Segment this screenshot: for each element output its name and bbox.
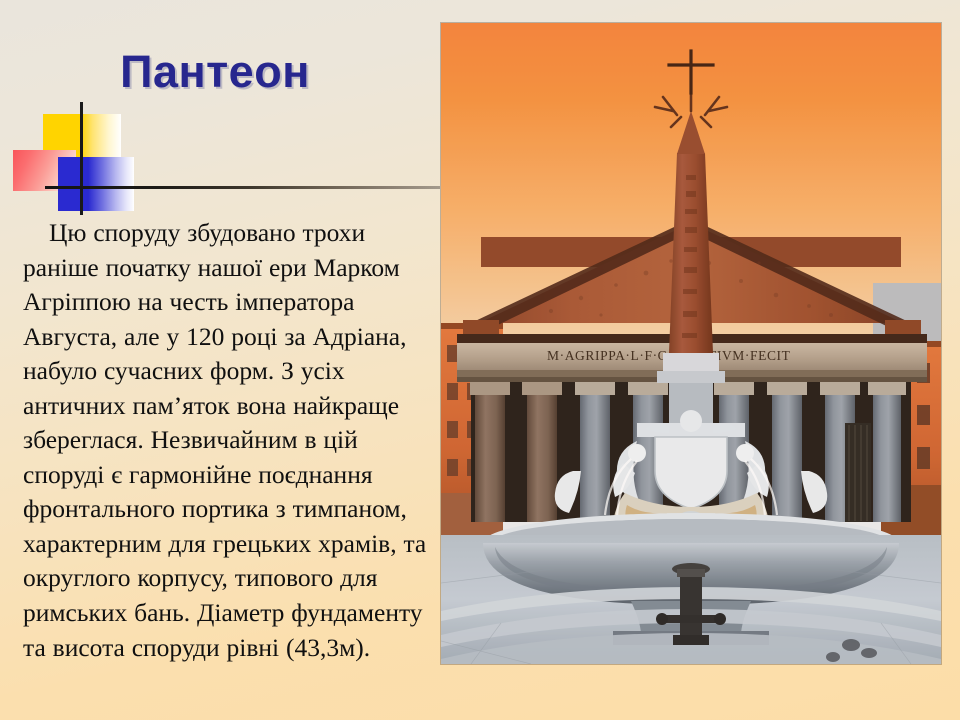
blue-square-icon bbox=[58, 157, 134, 211]
pantheon-illustration: M·AGRIPPA·L·F·C TIVM·FECIT bbox=[441, 23, 941, 664]
vertical-rule bbox=[80, 102, 83, 215]
slide-canvas: Пантеон Цю споруду збудовано трохи раніш… bbox=[0, 0, 960, 720]
page-title: Пантеон bbox=[0, 48, 430, 95]
decorative-squares-graphic bbox=[0, 95, 440, 220]
horizontal-rule bbox=[45, 186, 440, 189]
pantheon-photo: M·AGRIPPA·L·F·C TIVM·FECIT bbox=[441, 23, 941, 664]
body-paragraph: Цю споруду збудовано трохи раніше початк… bbox=[23, 216, 435, 665]
